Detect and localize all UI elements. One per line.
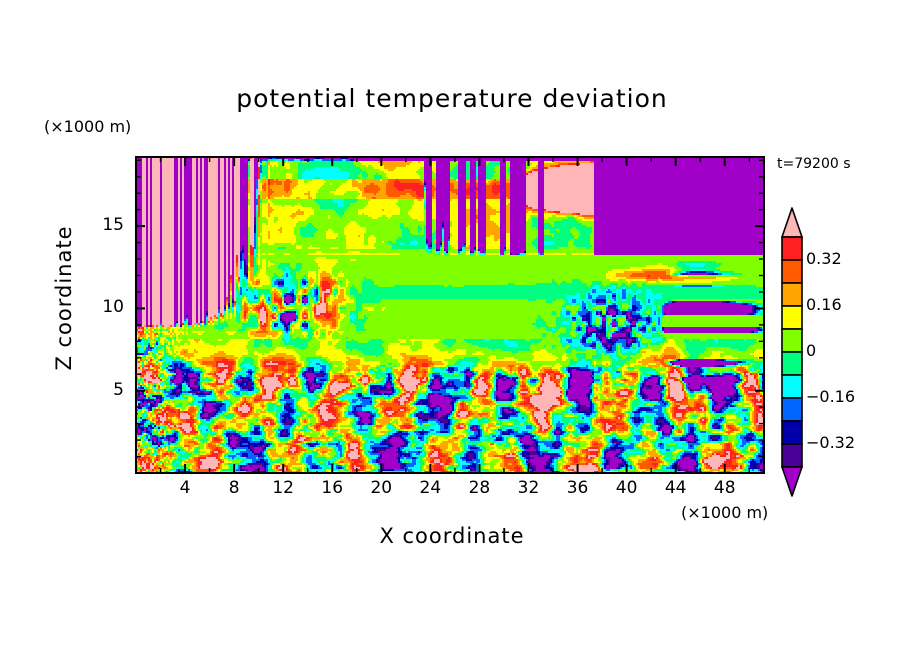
contour-field: [136, 157, 764, 473]
y-tick-label: 5: [84, 380, 124, 400]
x-axis-units: (×1000 m): [681, 503, 768, 522]
x-tick-label: 12: [263, 478, 303, 498]
figure-canvas: potential temperature deviation (×1000 m…: [0, 0, 904, 654]
x-tick-label: 36: [558, 478, 598, 498]
colorbar: [780, 207, 804, 497]
y-tick-label: 15: [84, 215, 124, 235]
x-tick-label: 4: [165, 478, 205, 498]
x-tick-label: 20: [361, 478, 401, 498]
colorbar-tick-label: 0.16: [806, 295, 842, 314]
x-tick-label: 32: [509, 478, 549, 498]
x-tick-label: 8: [214, 478, 254, 498]
colorbar-tick-label: −0.16: [806, 387, 855, 406]
time-annotation: t=79200 s: [777, 156, 851, 172]
contour-plot-area: [136, 157, 764, 473]
y-axis-label: Z coordinate: [52, 208, 76, 388]
x-tick-label: 16: [312, 478, 352, 498]
colorbar-tick-label: 0: [806, 341, 816, 360]
colorbar-tick-label: −0.32: [806, 433, 855, 452]
chart-title: potential temperature deviation: [0, 84, 904, 113]
x-tick-label: 48: [705, 478, 745, 498]
x-tick-label: 28: [459, 478, 499, 498]
x-tick-label: 40: [607, 478, 647, 498]
x-tick-label: 24: [410, 478, 450, 498]
colorbar-tick-label: 0.32: [806, 249, 842, 268]
x-tick-label: 44: [656, 478, 696, 498]
y-axis-units: (×1000 m): [44, 117, 131, 136]
x-axis-label: X coordinate: [0, 524, 904, 548]
colorbar-swatches: [780, 207, 804, 497]
y-tick-label: 10: [84, 297, 124, 317]
